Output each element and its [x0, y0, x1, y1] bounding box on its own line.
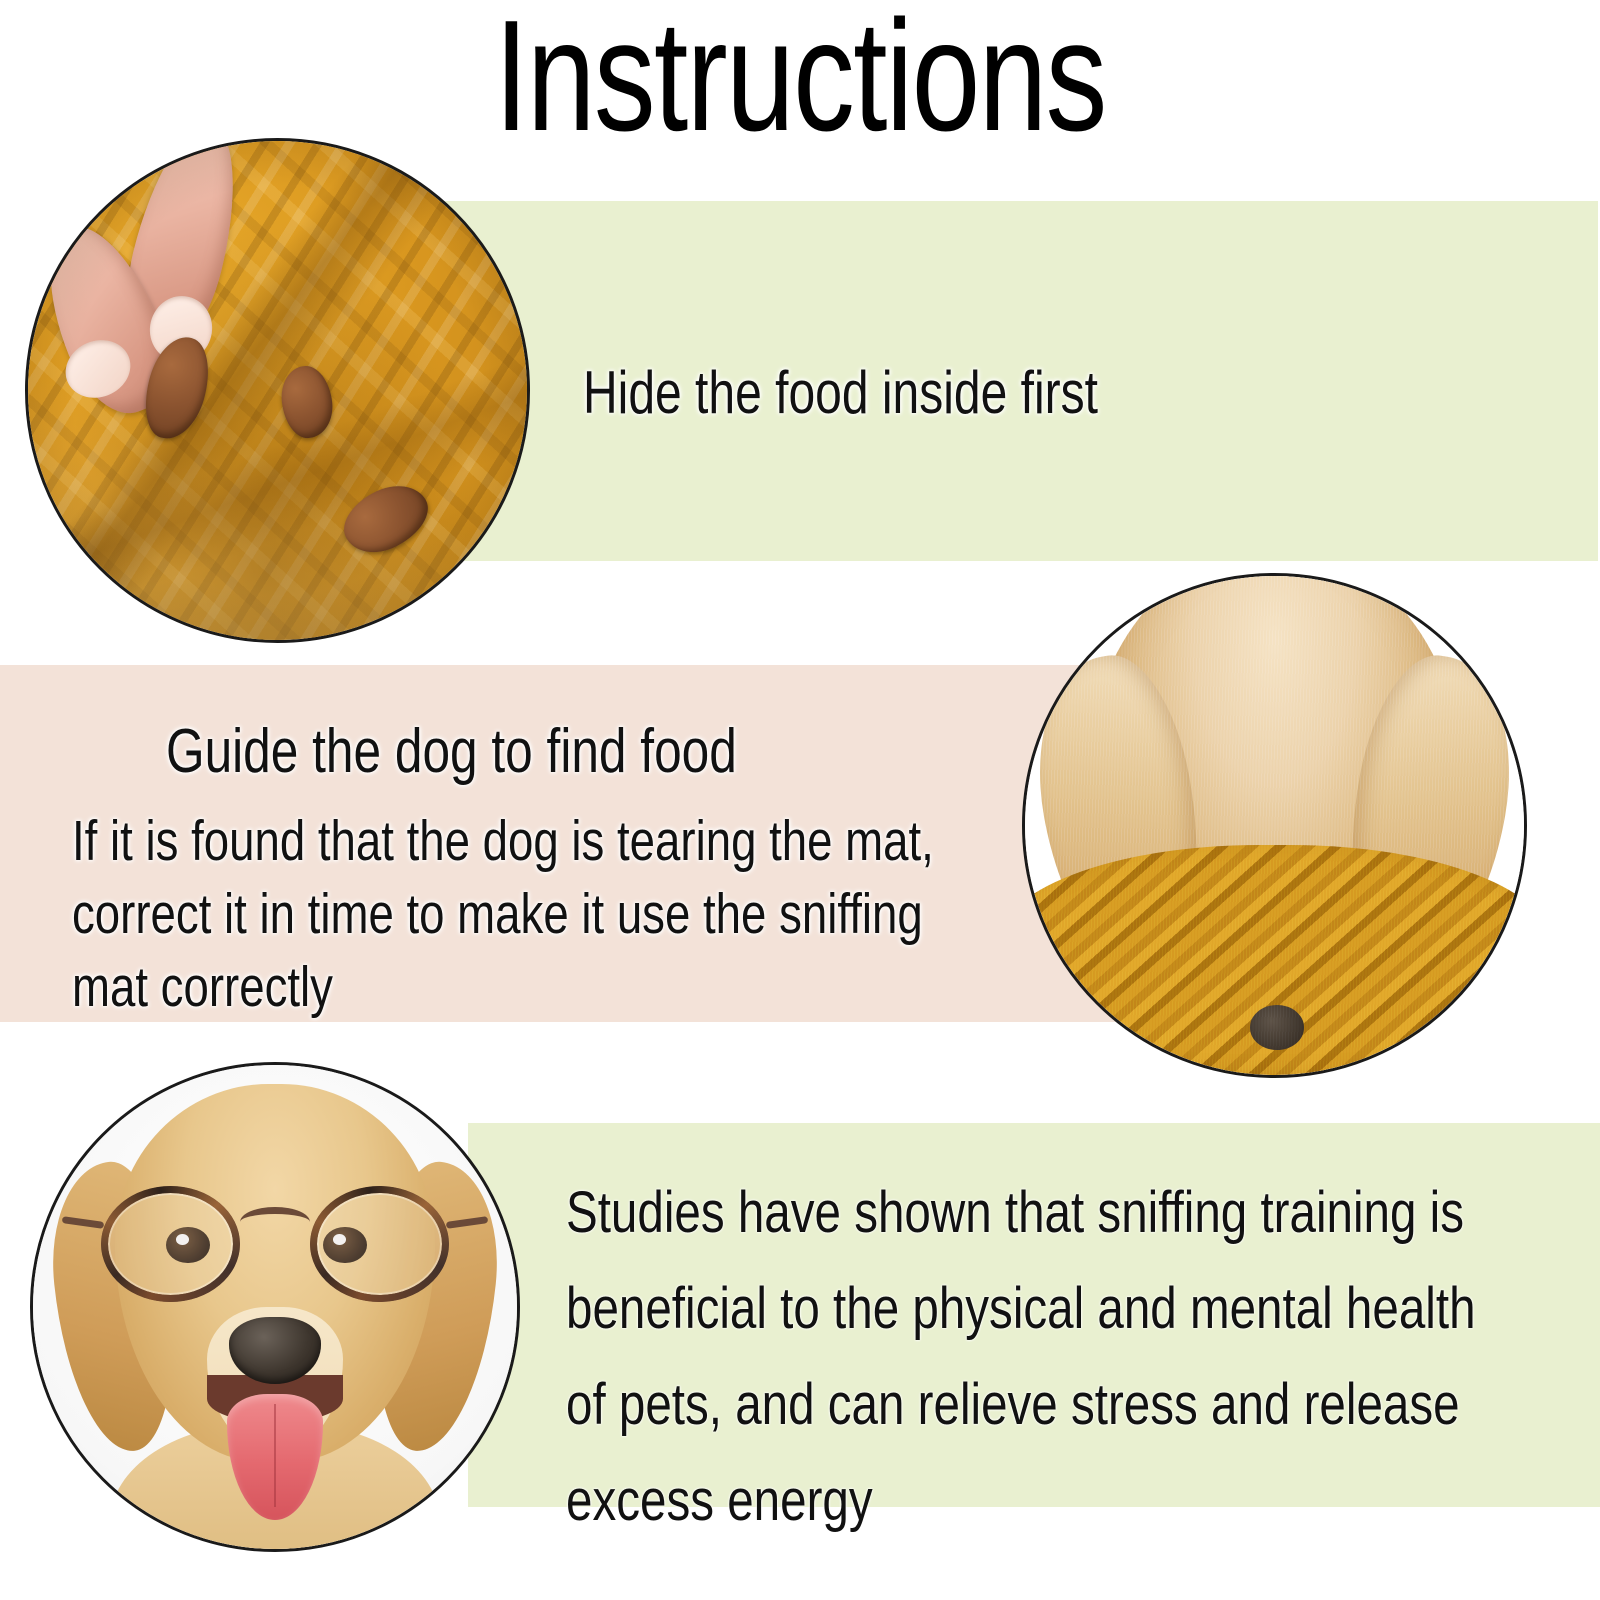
page-title: Instructions: [176, 0, 1424, 160]
glasses-lens-left: [101, 1186, 240, 1302]
step-2-body-line: mat correctly: [72, 951, 934, 1024]
glasses-bridge: [240, 1207, 310, 1237]
step-2-body-line: correct it in time to make it use the sn…: [72, 878, 934, 951]
photo-vignette: [28, 141, 527, 640]
glasses-lens-right: [310, 1186, 449, 1302]
step-2-body-line: If it is found that the dog is tearing t…: [72, 805, 934, 878]
dog-with-glasses-photo: [30, 1062, 520, 1552]
hand-hiding-food-in-mat-photo: [25, 138, 530, 643]
glasses-icon: [101, 1186, 449, 1302]
step-3-body-line: excess energy: [566, 1453, 1476, 1549]
step-3-body-line: beneficial to the physical and mental he…: [566, 1261, 1476, 1357]
instructions-infographic: Instructions Hide the food inside first …: [0, 0, 1600, 1600]
step-2-heading: Guide the dog to find food: [166, 716, 737, 787]
step-3-body: Studies have shown that sniffing trainin…: [566, 1165, 1600, 1549]
step-1-heading: Hide the food inside first: [583, 358, 1098, 427]
step-2-body: If it is found that the dog is tearing t…: [72, 805, 1149, 1024]
step-3-body-line: Studies have shown that sniffing trainin…: [566, 1165, 1476, 1261]
step-3-body-line: of pets, and can relieve stress and rele…: [566, 1357, 1476, 1453]
